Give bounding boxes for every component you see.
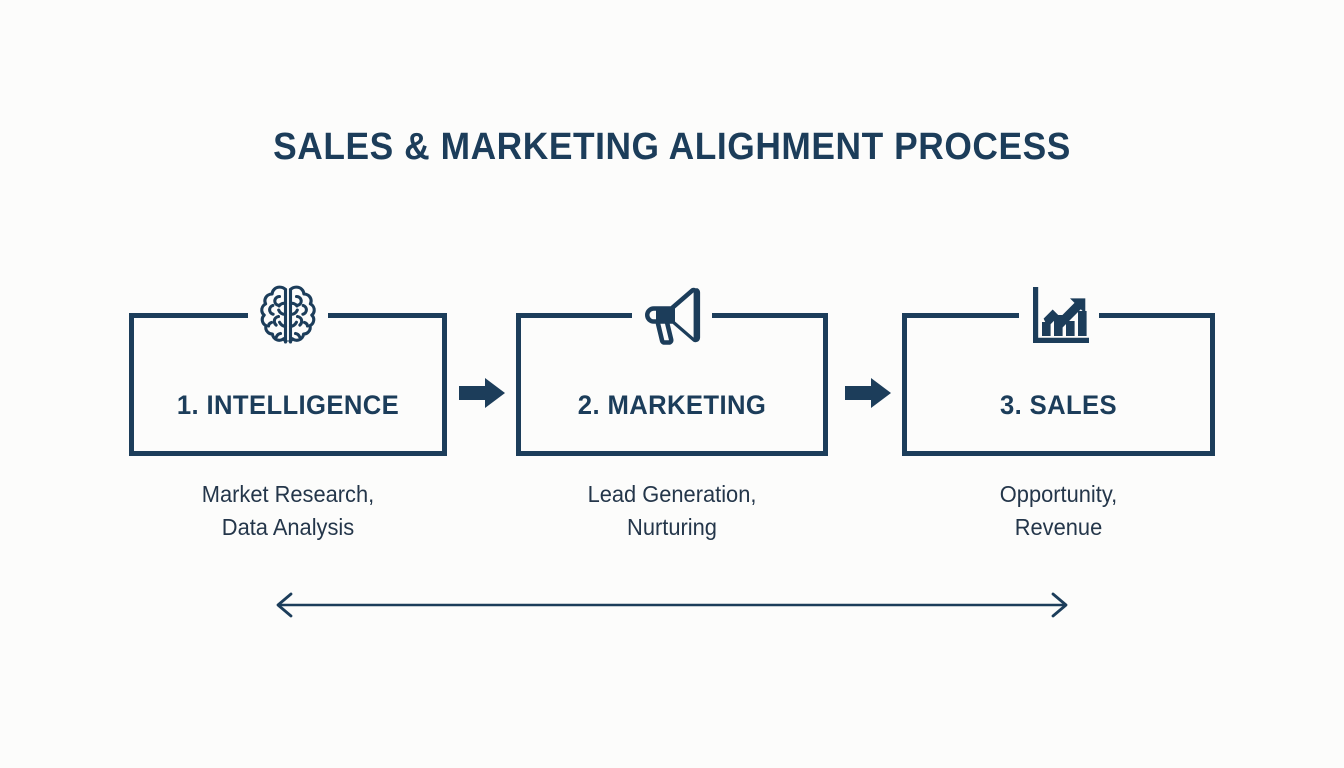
- step-caption-line-2: Data Analysis: [137, 511, 439, 544]
- page-title: SALES & MARKETING ALIGHMENT PROCESS: [47, 126, 1297, 169]
- step-label: 3. SALES: [915, 390, 1203, 421]
- step-caption: Opportunity, Revenue: [910, 478, 1207, 545]
- step-caption-line-2: Revenue: [910, 511, 1207, 544]
- step-caption-line-1: Market Research,: [137, 478, 439, 511]
- step-caption-line-2: Nurturing: [524, 511, 820, 544]
- bar-chart-growth-icon: [1021, 278, 1097, 354]
- process-step-marketing[interactable]: 2. MARKETING Lead Generation, Nurturing: [516, 300, 828, 545]
- brain-icon: [250, 278, 326, 354]
- connector-arrow-2: [845, 375, 893, 411]
- process-step-intelligence[interactable]: 1. INTELLIGENCE Market Research, Data An…: [129, 300, 447, 545]
- double-headed-arrow-icon: [272, 590, 1072, 620]
- step-caption: Lead Generation, Nurturing: [524, 478, 820, 545]
- megaphone-icon: [634, 278, 710, 354]
- step-caption-line-1: Lead Generation,: [524, 478, 820, 511]
- slide-canvas: SALES & MARKETING ALIGHMENT PROCESS: [0, 0, 1344, 768]
- process-steps: 1. INTELLIGENCE Market Research, Data An…: [0, 300, 1344, 560]
- connector-arrow-1: [459, 375, 507, 411]
- step-caption-line-1: Opportunity,: [910, 478, 1207, 511]
- step-box: 2. MARKETING: [516, 318, 828, 456]
- step-box: 3. SALES: [902, 318, 1215, 456]
- process-step-sales[interactable]: 3. SALES Opportunity, Revenue: [902, 300, 1215, 545]
- step-box: 1. INTELLIGENCE: [129, 318, 447, 456]
- step-label: 1. INTELLIGENCE: [142, 390, 435, 421]
- step-caption: Market Research, Data Analysis: [137, 478, 439, 545]
- step-label: 2. MARKETING: [529, 390, 816, 421]
